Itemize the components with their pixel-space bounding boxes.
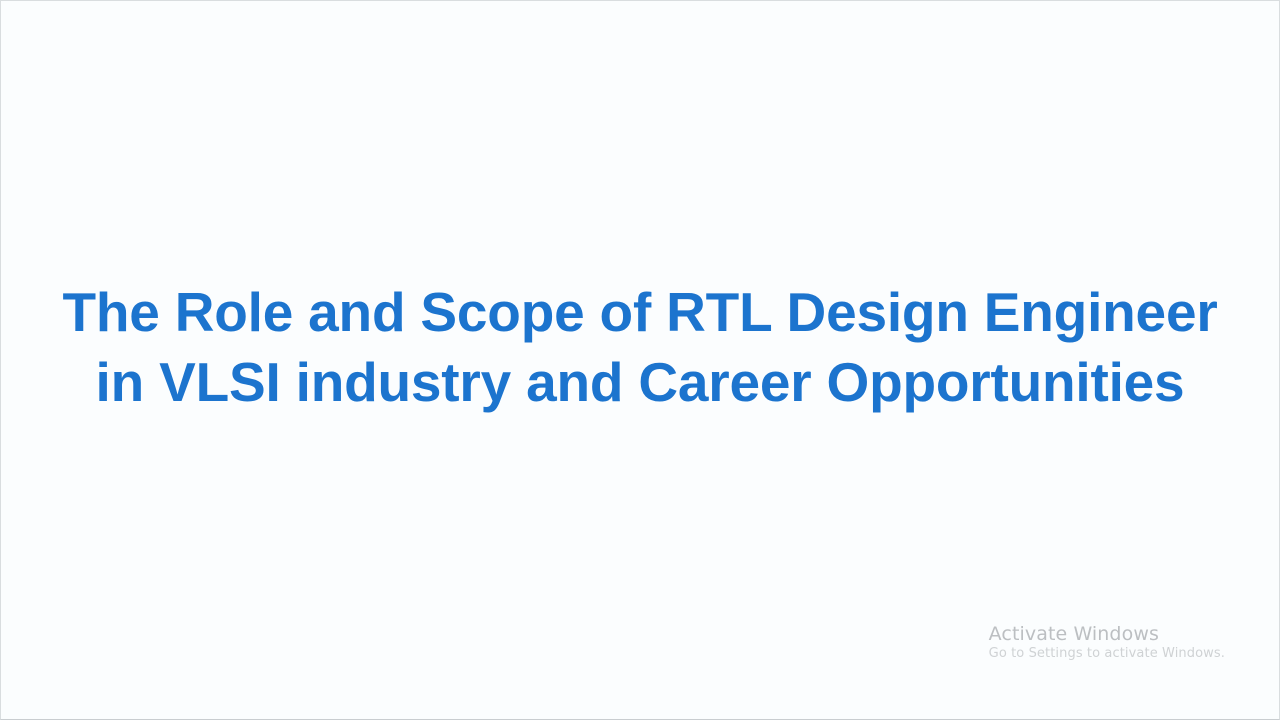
slide-title-line-2: in VLSI industry and Career Opportunitie… xyxy=(1,347,1279,417)
slide-canvas: The Role and Scope of RTL Design Enginee… xyxy=(0,0,1280,720)
activation-watermark-subtitle: Go to Settings to activate Windows. xyxy=(989,645,1225,663)
activation-watermark-title: Activate Windows xyxy=(989,623,1225,645)
slide-title-line-1: The Role and Scope of RTL Design Enginee… xyxy=(1,277,1279,347)
windows-activation-watermark: Activate Windows Go to Settings to activ… xyxy=(989,623,1225,663)
slide-title: The Role and Scope of RTL Design Enginee… xyxy=(1,277,1279,417)
